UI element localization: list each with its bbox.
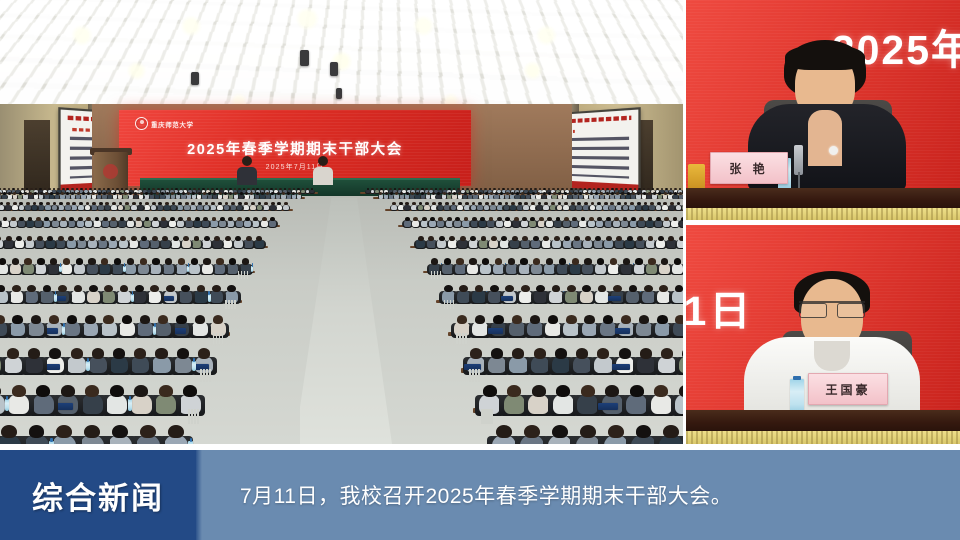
news-category-label: 综合新闻 bbox=[32, 473, 164, 518]
desk-leg bbox=[200, 369, 202, 382]
audience-head bbox=[421, 188, 424, 190]
audience-head bbox=[110, 236, 116, 241]
desk-leg bbox=[244, 271, 245, 279]
audience-head bbox=[134, 385, 148, 397]
audience-head bbox=[140, 192, 143, 195]
audience-head bbox=[270, 217, 275, 221]
desk-leg bbox=[197, 409, 199, 424]
led-backdrop: 重庆师范大学 2025年春季学期期末干部大会 2025年7月11日 bbox=[119, 110, 471, 186]
audience-head bbox=[459, 285, 468, 293]
audience-head bbox=[161, 217, 166, 221]
audience-head bbox=[136, 217, 141, 221]
audience-head bbox=[474, 192, 477, 195]
audience-head bbox=[282, 192, 285, 195]
news-category-box: 综合新闻 bbox=[0, 450, 196, 540]
audience-head bbox=[256, 236, 262, 241]
speaker-badge bbox=[829, 146, 838, 155]
audience-head bbox=[567, 285, 576, 293]
audience-head bbox=[516, 192, 519, 195]
projector-icon bbox=[330, 62, 338, 76]
audience-head bbox=[242, 258, 249, 264]
audience-person bbox=[197, 205, 203, 210]
audience-head bbox=[512, 348, 524, 358]
audience-head bbox=[195, 315, 205, 324]
audience-person bbox=[85, 205, 91, 210]
audience-person bbox=[111, 205, 117, 210]
projector-icon bbox=[300, 50, 309, 66]
audience-head bbox=[658, 236, 664, 241]
audience-head bbox=[470, 348, 482, 358]
desk-leg bbox=[203, 369, 205, 382]
audience-head bbox=[168, 425, 184, 439]
audience-head bbox=[29, 425, 45, 439]
audience-head bbox=[483, 385, 497, 397]
audience-head bbox=[113, 348, 125, 358]
desk-leg bbox=[213, 333, 215, 344]
audience-head bbox=[66, 192, 69, 195]
audience-head bbox=[78, 217, 83, 221]
audience-head bbox=[183, 385, 197, 397]
audience-right bbox=[350, 182, 683, 444]
audience-head bbox=[68, 236, 74, 241]
desk-leg bbox=[456, 333, 458, 344]
audience-head bbox=[546, 258, 553, 264]
audience-head bbox=[548, 192, 551, 195]
audience-head bbox=[177, 348, 189, 358]
water-bottle bbox=[128, 399, 132, 411]
desk-leg bbox=[241, 271, 242, 279]
audience-head bbox=[584, 315, 594, 324]
audience-person bbox=[105, 205, 111, 210]
audience-person bbox=[243, 205, 249, 210]
audience-head bbox=[469, 192, 472, 195]
audience-head bbox=[608, 425, 624, 439]
audience-head bbox=[552, 285, 561, 293]
desk-leg bbox=[434, 271, 435, 279]
audience-head bbox=[406, 192, 409, 195]
audience-head bbox=[648, 236, 654, 241]
audience-person bbox=[177, 205, 183, 210]
audience-head bbox=[606, 236, 612, 241]
water-bottle bbox=[59, 266, 61, 272]
audience-head bbox=[522, 236, 528, 241]
audience-head bbox=[0, 315, 5, 324]
desk-leg bbox=[194, 409, 196, 424]
audience-head bbox=[62, 188, 65, 190]
audience-head bbox=[61, 192, 64, 195]
audience-person bbox=[0, 239, 3, 248]
audience-head bbox=[271, 192, 274, 195]
audience-person bbox=[25, 290, 38, 303]
audience-head bbox=[119, 192, 122, 195]
audience-head bbox=[606, 217, 611, 221]
audience-head bbox=[663, 425, 679, 439]
audience-head bbox=[472, 217, 477, 221]
audience-head bbox=[184, 188, 187, 190]
desk-leg bbox=[231, 300, 232, 309]
audience-head bbox=[3, 192, 6, 195]
audience-person bbox=[157, 205, 163, 210]
conference-date: 2025年7月11日 bbox=[119, 162, 471, 172]
audience-head bbox=[214, 236, 220, 241]
tea-cup bbox=[688, 164, 705, 190]
audience-head bbox=[490, 192, 493, 195]
audience-head bbox=[145, 192, 148, 195]
desk-leg bbox=[450, 300, 451, 309]
desk-leg bbox=[459, 333, 461, 344]
audience-head bbox=[495, 258, 502, 264]
audience-head bbox=[140, 315, 150, 324]
audience-head bbox=[438, 217, 443, 221]
desk-leg bbox=[222, 333, 224, 344]
audience-person bbox=[488, 290, 501, 303]
audience-person bbox=[263, 205, 269, 210]
desk-leg bbox=[462, 333, 464, 344]
audience-head bbox=[552, 425, 568, 439]
audience-person bbox=[118, 205, 124, 210]
audience-person bbox=[204, 205, 210, 210]
audience-head bbox=[616, 236, 622, 241]
audience-head bbox=[475, 315, 485, 324]
audience-person bbox=[472, 290, 485, 303]
audience-head bbox=[225, 236, 231, 241]
audience-head bbox=[611, 188, 614, 190]
table-gold-skirt bbox=[686, 431, 960, 444]
audience-head bbox=[82, 192, 85, 195]
audience-head bbox=[520, 258, 527, 264]
audience-left bbox=[0, 182, 330, 444]
desk-name-card bbox=[488, 328, 503, 333]
audience-head bbox=[134, 348, 146, 358]
desk-leg bbox=[191, 409, 193, 424]
audience-head bbox=[558, 192, 561, 195]
audience-person bbox=[595, 290, 608, 303]
audience-head bbox=[580, 425, 596, 439]
audience-person bbox=[91, 205, 97, 210]
audience-person bbox=[148, 290, 161, 303]
news-caption-text: 7月11日，我校召开2025年春季学期期末干部大会。 bbox=[240, 480, 732, 510]
audience-head bbox=[61, 217, 66, 221]
audience-head bbox=[183, 236, 189, 241]
audience-head bbox=[413, 217, 418, 221]
audience-person bbox=[87, 290, 100, 303]
audience-person bbox=[190, 205, 196, 210]
audience-head bbox=[261, 192, 264, 195]
audience-head bbox=[194, 236, 200, 241]
audience-person bbox=[250, 205, 256, 210]
audience-head bbox=[507, 385, 521, 397]
audience-head bbox=[181, 285, 190, 293]
desk-leg bbox=[437, 271, 438, 279]
audience-head bbox=[669, 192, 672, 195]
audience-head bbox=[158, 315, 168, 324]
audience-head bbox=[597, 348, 609, 358]
audience-head bbox=[53, 217, 58, 221]
audience-head bbox=[110, 385, 124, 397]
audience-head bbox=[7, 348, 19, 358]
audience-head bbox=[124, 192, 127, 195]
audience-person bbox=[164, 205, 170, 210]
audience-head bbox=[89, 188, 92, 190]
audience-person bbox=[58, 205, 64, 210]
audience-head bbox=[532, 385, 546, 397]
audience-head bbox=[27, 285, 36, 293]
audience-head bbox=[428, 236, 434, 241]
audience-head bbox=[597, 258, 604, 264]
audience-head bbox=[162, 236, 168, 241]
audience-head bbox=[120, 217, 125, 221]
audience-head bbox=[585, 192, 588, 195]
audience-head bbox=[16, 236, 22, 241]
desk-leg bbox=[209, 369, 211, 382]
audience-head bbox=[74, 285, 83, 293]
university-seal-icon bbox=[135, 117, 148, 130]
audience-head bbox=[664, 217, 669, 221]
desk-leg bbox=[469, 369, 471, 382]
audience-head bbox=[89, 285, 98, 293]
audience-head bbox=[219, 192, 222, 195]
audience-head bbox=[636, 425, 652, 439]
audience-head bbox=[559, 258, 566, 264]
audience-person bbox=[626, 290, 639, 303]
audience-head bbox=[131, 236, 137, 241]
audience-head bbox=[31, 315, 41, 324]
audience-head bbox=[24, 258, 31, 264]
audience-head bbox=[556, 385, 570, 397]
audience-head bbox=[8, 192, 11, 195]
audience-head bbox=[77, 192, 80, 195]
table-gold-skirt bbox=[686, 208, 960, 220]
audience-head bbox=[489, 217, 494, 221]
desk-leg bbox=[219, 333, 221, 344]
audience-head bbox=[87, 192, 90, 195]
audience-head bbox=[674, 258, 681, 264]
audience-head bbox=[395, 192, 398, 195]
audience-head bbox=[187, 192, 190, 195]
audience-head bbox=[19, 192, 22, 195]
water-bottle bbox=[188, 441, 193, 444]
audience-head bbox=[161, 192, 164, 195]
audience-head bbox=[173, 236, 179, 241]
audience-head bbox=[543, 188, 546, 190]
audience-head bbox=[129, 192, 132, 195]
audience-head bbox=[240, 192, 243, 195]
audience-head bbox=[37, 258, 44, 264]
desk-leg bbox=[447, 300, 448, 309]
audience-person bbox=[133, 290, 146, 303]
audience-head bbox=[152, 236, 158, 241]
audience-head bbox=[648, 217, 653, 221]
audience-head bbox=[229, 192, 232, 195]
audience-head bbox=[98, 192, 101, 195]
desk-leg bbox=[478, 369, 480, 382]
audience-head bbox=[27, 236, 33, 241]
audience-head bbox=[543, 192, 546, 195]
audience-head bbox=[150, 192, 153, 195]
audience-head bbox=[166, 192, 169, 195]
speaker-fringe bbox=[785, 44, 865, 70]
audience-head bbox=[584, 258, 591, 264]
audience-person bbox=[124, 205, 130, 210]
audience-head bbox=[262, 217, 267, 221]
audience-head bbox=[631, 217, 636, 221]
nameplate-bottom: 王国豪 bbox=[808, 373, 888, 405]
audience-head bbox=[256, 192, 259, 195]
table-wood bbox=[686, 410, 960, 431]
audience-person bbox=[237, 205, 243, 210]
audience-head bbox=[101, 258, 108, 264]
audience-head bbox=[220, 217, 225, 221]
audience-head bbox=[527, 192, 530, 195]
audience-head bbox=[95, 217, 100, 221]
desk-leg bbox=[487, 409, 489, 424]
audience-person bbox=[71, 290, 84, 303]
audience-head bbox=[12, 258, 19, 264]
audience-head bbox=[572, 258, 579, 264]
audience-head bbox=[555, 348, 567, 358]
audience-head bbox=[208, 192, 211, 195]
desk-leg bbox=[206, 369, 208, 382]
audience-head bbox=[111, 217, 116, 221]
audience-person bbox=[457, 290, 470, 303]
audience-head bbox=[140, 258, 147, 264]
audience-head bbox=[253, 217, 258, 221]
audience-head bbox=[597, 217, 602, 221]
audience-head bbox=[152, 258, 159, 264]
audience-head bbox=[191, 258, 198, 264]
audience-head bbox=[266, 192, 269, 195]
audience-head bbox=[449, 236, 455, 241]
audience-head bbox=[469, 258, 476, 264]
audience-person bbox=[580, 290, 593, 303]
audience-head bbox=[581, 217, 586, 221]
desk-leg bbox=[247, 271, 248, 279]
audience-head bbox=[69, 217, 74, 221]
desk-leg bbox=[453, 300, 454, 309]
audience-person bbox=[131, 205, 137, 210]
audience-head bbox=[572, 217, 577, 221]
audience-head bbox=[430, 217, 435, 221]
audience-head bbox=[614, 217, 619, 221]
desk-leg bbox=[228, 300, 229, 309]
water-bottle bbox=[208, 294, 211, 302]
audience-head bbox=[24, 192, 27, 195]
audience-head bbox=[98, 188, 101, 190]
audience-head bbox=[639, 315, 649, 324]
audience-head bbox=[638, 188, 641, 190]
desk-name-card bbox=[612, 364, 629, 370]
audience-person bbox=[534, 290, 547, 303]
audience-head bbox=[120, 236, 126, 241]
audience-head bbox=[585, 236, 591, 241]
audience-head bbox=[246, 236, 252, 241]
audience-head bbox=[482, 258, 489, 264]
audience-person bbox=[519, 290, 532, 303]
audience-head bbox=[212, 217, 217, 221]
audience-head bbox=[589, 217, 594, 221]
speaker-neckline bbox=[808, 110, 842, 166]
audience-head bbox=[170, 217, 175, 221]
audience-head bbox=[610, 258, 617, 264]
audience-head bbox=[385, 192, 388, 195]
audience-head bbox=[576, 348, 588, 358]
stage-person bbox=[312, 156, 334, 184]
audience-head bbox=[0, 192, 1, 195]
audience-head bbox=[140, 425, 156, 439]
audience-head bbox=[104, 285, 113, 293]
audience-head bbox=[44, 217, 49, 221]
audience-head bbox=[470, 236, 476, 241]
audience-head bbox=[224, 192, 227, 195]
audience-head bbox=[245, 192, 248, 195]
audience-head bbox=[443, 192, 446, 195]
audience-head bbox=[497, 217, 502, 221]
audience-head bbox=[619, 348, 631, 358]
audience-head bbox=[416, 192, 419, 195]
stage-person bbox=[236, 156, 258, 184]
audience-person bbox=[649, 205, 655, 210]
audience-head bbox=[569, 192, 572, 195]
audience-person bbox=[151, 205, 157, 210]
audience-head bbox=[203, 217, 208, 221]
ceiling bbox=[0, 0, 683, 118]
audience-head bbox=[3, 217, 8, 221]
audience-head bbox=[595, 192, 598, 195]
audience-head bbox=[171, 192, 174, 195]
audience-head bbox=[439, 236, 445, 241]
desk-leg bbox=[490, 409, 492, 424]
audience-head bbox=[508, 258, 515, 264]
audience-head bbox=[590, 192, 593, 195]
audience-head bbox=[145, 217, 150, 221]
audience-head bbox=[79, 236, 85, 241]
audience-person bbox=[52, 205, 58, 210]
audience-head bbox=[582, 285, 591, 293]
audience-person bbox=[276, 205, 282, 210]
audience-person bbox=[102, 290, 115, 303]
audience-person bbox=[179, 290, 192, 303]
audience-head bbox=[71, 348, 83, 358]
audience-head bbox=[89, 236, 95, 241]
audience-head bbox=[128, 217, 133, 221]
audience-head bbox=[213, 315, 223, 324]
audience-head bbox=[679, 385, 683, 397]
audience-head bbox=[6, 236, 12, 241]
audience-head bbox=[0, 258, 6, 264]
audience-head bbox=[681, 217, 683, 221]
audience-person bbox=[230, 205, 236, 210]
audience-head bbox=[453, 192, 456, 195]
desk-leg bbox=[431, 271, 432, 279]
audience-head bbox=[103, 217, 108, 221]
audience-person bbox=[98, 205, 104, 210]
desk-leg bbox=[440, 271, 441, 279]
audience-head bbox=[516, 188, 519, 190]
audience-head bbox=[643, 192, 646, 195]
audience-head bbox=[637, 236, 643, 241]
audience-head bbox=[627, 236, 633, 241]
audience-head bbox=[58, 236, 64, 241]
audience-head bbox=[245, 217, 250, 221]
desk-name-card bbox=[615, 328, 630, 333]
audience-head bbox=[114, 258, 121, 264]
audience-person bbox=[117, 290, 130, 303]
audience-person bbox=[679, 356, 683, 374]
audience-head bbox=[122, 315, 132, 324]
audience-head bbox=[153, 217, 158, 221]
university-logo: 重庆师范大学 bbox=[135, 117, 194, 130]
audience-person bbox=[144, 205, 150, 210]
